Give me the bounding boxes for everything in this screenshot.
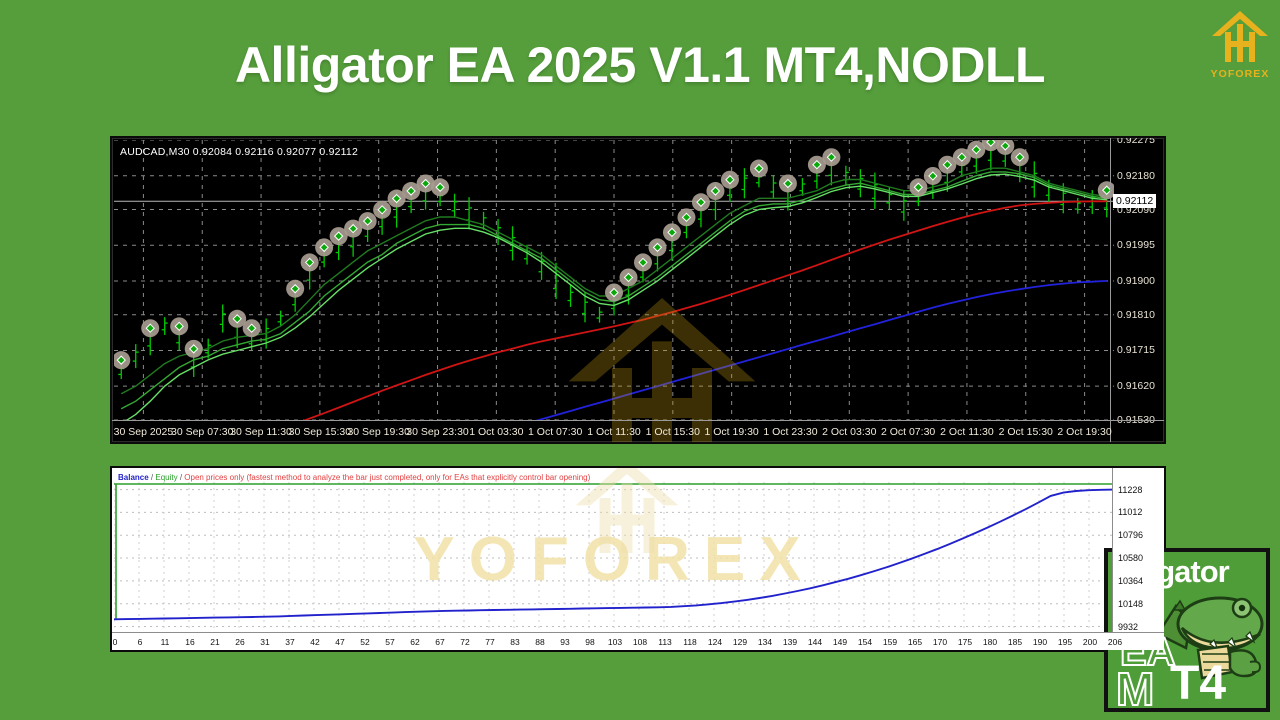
equity-method-note: Open prices only (fastest method to anal…: [184, 473, 590, 482]
equity-y-tick: 10796: [1118, 530, 1143, 540]
equity-x-tick: 149: [833, 637, 847, 647]
price-y-tick: 0.91995: [1117, 239, 1155, 251]
equity-x-tick: 134: [758, 637, 772, 647]
equity-y-tick: 10364: [1118, 576, 1143, 586]
equity-x-tick: 185: [1008, 637, 1022, 647]
price-x-tick: 2 Oct 19:30: [1057, 426, 1111, 438]
price-y-tick: 0.91900: [1117, 275, 1155, 287]
price-x-tick: 1 Oct 07:30: [528, 426, 582, 438]
equity-x-tick: 124: [708, 637, 722, 647]
price-x-tick: 30 Sep 19:30: [347, 426, 409, 438]
price-series-svg: [114, 140, 1114, 420]
equity-x-tick: 165: [908, 637, 922, 647]
equity-x-tick: 200: [1083, 637, 1097, 647]
price-x-tick: 30 Sep 2025: [114, 426, 174, 438]
equity-x-tick: 103: [608, 637, 622, 647]
equity-y-tick: 11228: [1118, 485, 1142, 495]
price-x-tick: 1 Oct 11:30: [587, 426, 641, 438]
equity-x-tick: 26: [235, 637, 244, 647]
price-x-tick: 30 Sep 23:30: [406, 426, 468, 438]
yoforex-arrow-house-icon: [1208, 8, 1272, 68]
equity-x-tick: 175: [958, 637, 972, 647]
price-x-tick: 2 Oct 03:30: [822, 426, 876, 438]
equity-x-tick: 180: [983, 637, 997, 647]
equity-x-tick: 31: [260, 637, 269, 647]
equity-x-tick: 108: [633, 637, 647, 647]
equity-y-tick: 9932: [1118, 622, 1138, 632]
equity-y-tick: 10580: [1118, 553, 1143, 563]
equity-x-tick: 118: [683, 637, 697, 647]
equity-x-tick: 98: [585, 637, 594, 647]
equity-x-tick: 42: [310, 637, 319, 647]
price-x-axis: 30 Sep 202530 Sep 07:3030 Sep 11:3030 Se…: [112, 420, 1164, 442]
price-y-axis: 0.922750.921800.920900.919950.919000.918…: [1110, 138, 1164, 442]
price-x-tick: 30 Sep 07:30: [171, 426, 233, 438]
equity-x-tick: 195: [1058, 637, 1072, 647]
current-price-label: 0.92112: [1113, 194, 1156, 208]
page-title: Alligator EA 2025 V1.1 MT4,NODLL: [0, 36, 1280, 94]
price-x-tick: 1 Oct 23:30: [763, 426, 817, 438]
equity-legend-equity: Equity: [155, 473, 177, 482]
price-chart[interactable]: AUDCAD,M30 0.92084 0.92116 0.92077 0.921…: [110, 136, 1166, 444]
equity-x-tick: 77: [485, 637, 494, 647]
price-y-tick: 0.91810: [1117, 309, 1155, 321]
equity-x-tick: 47: [335, 637, 344, 647]
equity-x-tick: 62: [410, 637, 419, 647]
equity-x-tick: 83: [510, 637, 519, 647]
equity-y-tick: 10148: [1118, 599, 1143, 609]
price-x-tick: 2 Oct 07:30: [881, 426, 935, 438]
price-plot-area[interactable]: [114, 140, 1114, 420]
equity-x-tick: 52: [360, 637, 369, 647]
equity-x-tick: 144: [808, 637, 822, 647]
equity-x-tick: 37: [285, 637, 294, 647]
equity-y-axis: 1122811012107961058010364101489932: [1112, 468, 1164, 650]
yoforex-logo: YOFOREX: [1208, 8, 1272, 90]
equity-x-tick: 113: [658, 637, 672, 647]
equity-x-tick: 88: [535, 637, 544, 647]
equity-y-tick: 11012: [1118, 507, 1142, 517]
equity-x-tick: 11: [161, 637, 170, 647]
equity-x-axis: 0611162126313742475257626772778388939810…: [112, 632, 1164, 650]
equity-x-tick: 21: [210, 637, 219, 647]
equity-x-tick: 154: [858, 637, 872, 647]
equity-x-tick: 72: [460, 637, 469, 647]
price-x-tick: 30 Sep 11:30: [230, 426, 292, 438]
equity-x-tick: 190: [1033, 637, 1047, 647]
yoforex-logo-text: YOFOREX: [1208, 68, 1272, 80]
price-x-tick: 1 Oct 15:30: [646, 426, 700, 438]
price-y-tick: 0.91715: [1117, 344, 1155, 356]
equity-x-tick: 0: [113, 637, 118, 647]
price-x-tick: 1 Oct 19:30: [704, 426, 758, 438]
price-x-tick: 2 Oct 11:30: [940, 426, 994, 438]
equity-x-tick: 139: [783, 637, 797, 647]
badge-label-m: M: [1116, 662, 1154, 712]
equity-legend-balance: Balance: [118, 473, 149, 482]
equity-x-tick: 159: [883, 637, 897, 647]
badge-label-mt4: T4: [1170, 656, 1226, 711]
price-y-tick: 0.91620: [1117, 380, 1155, 392]
equity-x-tick: 93: [560, 637, 569, 647]
equity-x-tick: 206: [1108, 637, 1122, 647]
equity-x-tick: 170: [933, 637, 947, 647]
price-y-tick: 0.92180: [1117, 170, 1155, 182]
equity-x-tick: 67: [435, 637, 444, 647]
price-chart-header: AUDCAD,M30 0.92084 0.92116 0.92077 0.921…: [120, 146, 358, 158]
equity-x-tick: 57: [385, 637, 394, 647]
price-x-tick: 1 Oct 03:30: [469, 426, 523, 438]
price-x-tick: 2 Oct 15:30: [999, 426, 1053, 438]
price-x-tick: 30 Sep 15:30: [289, 426, 351, 438]
price-y-tick: 0.92275: [1117, 136, 1155, 146]
equity-chart-header: Balance / Equity / Open prices only (fas…: [118, 473, 590, 482]
equity-x-tick: 6: [138, 637, 143, 647]
equity-x-tick: 16: [185, 637, 194, 647]
equity-chart[interactable]: Balance / Equity / Open prices only (fas…: [110, 466, 1166, 652]
equity-x-tick: 129: [733, 637, 747, 647]
